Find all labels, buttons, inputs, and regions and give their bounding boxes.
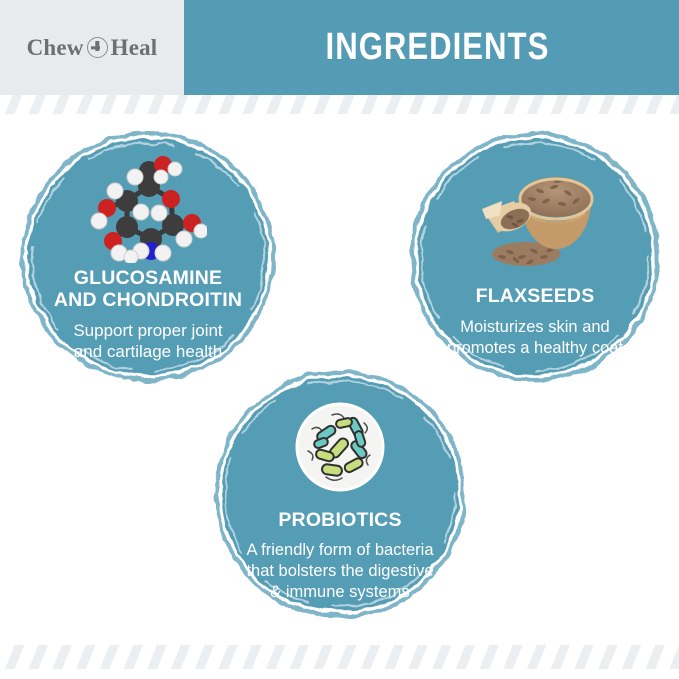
title-line: GLUCOSAMINE <box>54 268 242 290</box>
desc-line: and cartilage health <box>73 341 222 363</box>
molecule-icon <box>89 152 207 264</box>
desc-line: Support proper joint <box>73 320 222 342</box>
desc-line: that bolsters the digestive <box>246 561 433 582</box>
ingredient-body-probiotics: PROBIOTICS A friendly form of bacteria t… <box>208 366 472 622</box>
desc-line: A friendly form of bacteria <box>246 540 433 561</box>
title-line: AND CHONDROITIN <box>54 290 242 312</box>
ingredient-title-flaxseeds: FLAXSEEDS <box>476 286 595 308</box>
desc-line: promotes a healthy coat <box>447 338 623 359</box>
ingredient-title-probiotics: PROBIOTICS <box>278 510 401 532</box>
ingredient-circle-flaxseeds[interactable]: FLAXSEEDS Moisturizes skin and promotes … <box>404 128 666 386</box>
desc-line: Moisturizes skin and <box>447 317 623 338</box>
title-line: FLAXSEEDS <box>476 286 595 308</box>
ingredient-title-glucosamine: GLUCOSAMINE AND CHONDROITIN <box>54 268 242 312</box>
ingredient-description-probiotics: A friendly form of bacteria that bolster… <box>246 540 433 603</box>
ingredient-description-glucosamine: Support proper joint and cartilage healt… <box>73 320 222 364</box>
ingredient-description-flaxseeds: Moisturizes skin and promotes a healthy … <box>447 317 623 359</box>
ingredient-circle-glucosamine[interactable]: GLUCOSAMINE AND CHONDROITIN Support prop… <box>14 128 282 386</box>
title-line: PROBIOTICS <box>278 510 401 532</box>
ingredient-body-glucosamine: GLUCOSAMINE AND CHONDROITIN Support prop… <box>14 128 282 386</box>
ingredient-body-flaxseeds: FLAXSEEDS Moisturizes skin and promotes … <box>404 128 666 386</box>
bacteria-icon <box>292 394 388 500</box>
ingredients-canvas: GLUCOSAMINE AND CHONDROITIN Support prop… <box>0 0 679 679</box>
desc-line: & immune systems <box>246 582 433 603</box>
ingredient-circle-probiotics[interactable]: PROBIOTICS A friendly form of bacteria t… <box>208 366 472 622</box>
flaxseed-bowl-icon <box>470 154 600 272</box>
